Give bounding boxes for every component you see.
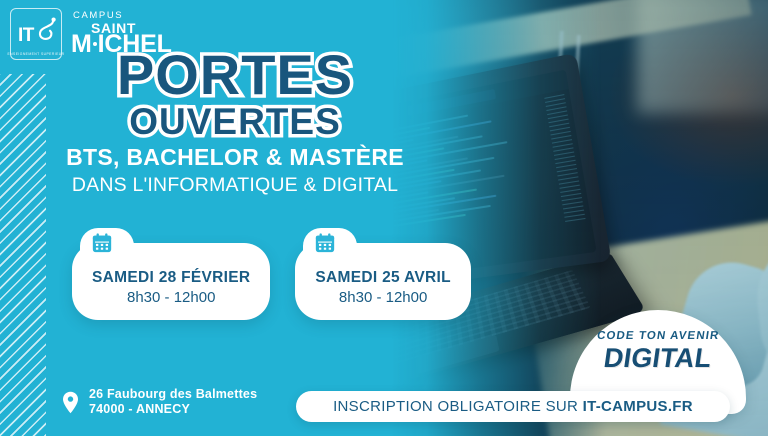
address-line-1: 26 Faubourg des Balmettes: [89, 387, 257, 403]
address-block: 26 Faubourg des Balmettes 74000 - ANNECY: [62, 387, 257, 418]
it-logo-swirl-icon: [35, 17, 57, 43]
location-pin-icon: [62, 391, 79, 414]
registration-cta-bar[interactable]: INSCRIPTION OBLIGATOIRE SUR IT-CAMPUS.FR: [296, 391, 730, 422]
address-line-2: 74000 - ANNECY: [89, 402, 257, 418]
registration-cta-text: INSCRIPTION OBLIGATOIRE SUR IT-CAMPUS.FR: [333, 398, 693, 415]
date-card[interactable]: SAMEDI 28 FÉVRIER 8h30 - 12h00: [72, 243, 270, 320]
calendar-icon: [314, 232, 336, 254]
date-card-hours: 8h30 - 12h00: [92, 289, 250, 306]
date-card[interactable]: SAMEDI 25 AVRIL 8h30 - 12h00: [295, 243, 470, 320]
subtitle-block: BTS, BACHELOR & MASTÈRE DANS L'INFORMATI…: [0, 144, 470, 197]
date-cards: SAMEDI 28 FÉVRIER 8h30 - 12h00 SAM: [72, 243, 471, 320]
headline-line-2: OUVERTES: [0, 104, 470, 140]
open-house-poster: IT ENSEIGNEMENT SUPERIEUR CAMPUS SAINT M…: [0, 0, 768, 436]
subtitle-line-2: DANS L'INFORMATIQUE & DIGITAL: [0, 174, 470, 197]
slogan-small: CODE TON AVENIR: [596, 330, 720, 342]
slogan-large: DIGITAL: [602, 343, 714, 374]
headline-line-1: PORTES: [0, 48, 470, 102]
calendar-icon: [91, 232, 113, 254]
date-card-day: SAMEDI 25 AVRIL: [315, 269, 450, 287]
date-card-hours: 8h30 - 12h00: [315, 289, 450, 306]
date-card-day: SAMEDI 28 FÉVRIER: [92, 269, 250, 287]
it-logo-letters: IT: [18, 26, 34, 45]
headline-block: PORTES OUVERTES: [0, 48, 470, 139]
registration-website: IT-CAMPUS.FR: [583, 398, 693, 415]
campus-label: CAMPUS: [73, 11, 172, 21]
registration-cta-prefix: INSCRIPTION OBLIGATOIRE SUR: [333, 398, 583, 415]
address-text: 26 Faubourg des Balmettes 74000 - ANNECY: [89, 387, 257, 418]
subtitle-line-1: BTS, BACHELOR & MASTÈRE: [0, 144, 470, 171]
